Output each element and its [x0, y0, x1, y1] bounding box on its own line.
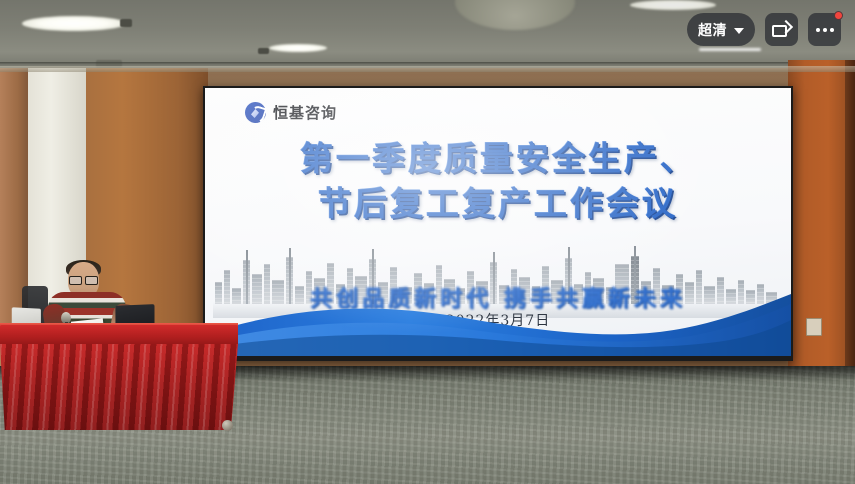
quality-selector-wrap[interactable]: 超清 — [687, 13, 755, 46]
slide-title-line-1: 第一季度质量安全生产、 — [205, 136, 791, 181]
quality-highlight — [699, 48, 761, 51]
wall-switch-plate — [806, 318, 822, 336]
video-frame[interactable]: 恒基咨询 第一季度质量安全生产、 节后复工复产工作会议 — [0, 0, 855, 484]
chevron-down-icon — [734, 28, 744, 34]
slide-title: 第一季度质量安全生产、 节后复工复产工作会议 — [205, 136, 791, 226]
wall-right-edge — [845, 60, 855, 380]
quality-label: 超清 — [698, 20, 727, 40]
ceiling-seam — [0, 62, 855, 65]
cast-button[interactable] — [765, 13, 798, 46]
notification-badge — [834, 11, 843, 20]
player-controls[interactable]: 超清 — [687, 13, 841, 46]
more-options-icon — [816, 28, 834, 32]
ceiling-fitting — [258, 48, 269, 54]
wall-top-trim — [0, 66, 855, 72]
table-foot — [222, 420, 233, 431]
slide-logo: 恒基咨询 — [245, 102, 337, 123]
ceiling-light — [630, 0, 716, 10]
table-skirt — [0, 344, 238, 430]
ceiling-fitting — [120, 19, 132, 27]
ceiling-dome-fixture — [455, 0, 575, 30]
hengji-logo-icon — [245, 102, 266, 123]
slide-title-line-2: 节后复工复产工作会议 — [205, 181, 791, 226]
slide-logo-text: 恒基咨询 — [273, 102, 337, 123]
screen-cast-icon — [772, 22, 791, 38]
ceiling-light — [269, 44, 327, 52]
more-options-button[interactable] — [808, 13, 841, 46]
blue-wave-graphic — [205, 294, 791, 356]
presentation-slide: 恒基咨询 第一季度质量安全生产、 节后复工复产工作会议 — [205, 88, 791, 356]
conference-table-top — [0, 325, 238, 347]
quality-selector-button[interactable]: 超清 — [687, 13, 755, 46]
glasses-icon — [69, 276, 98, 283]
video-player-stage[interactable]: 恒基咨询 第一季度质量安全生产、 节后复工复产工作会议 — [0, 0, 855, 484]
ceiling-light — [22, 16, 126, 31]
